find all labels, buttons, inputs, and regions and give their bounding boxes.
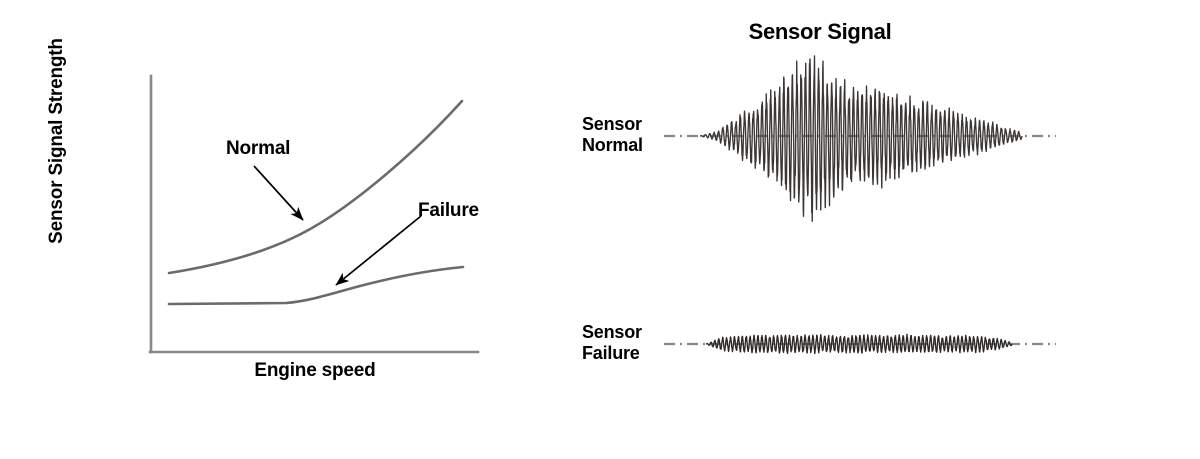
waveform-panel: Sensor Signal Sensor Normal Sensor Failu… (560, 0, 1200, 459)
curve-failure (169, 267, 463, 304)
series-label-failure: Failure (418, 200, 479, 222)
line-chart-svg (0, 0, 520, 459)
figure-canvas: Sensor Signal Strength Engine speed Norm… (0, 0, 1200, 459)
line-chart-panel: Sensor Signal Strength Engine speed Norm… (0, 0, 520, 459)
arrow-normal (254, 166, 303, 220)
x-axis-title: Engine speed (150, 360, 480, 382)
waveform-trace-normal (700, 56, 1022, 221)
y-axis-title: Sensor Signal Strength (46, 26, 68, 256)
curve-normal (169, 101, 462, 273)
series-label-normal: Normal (226, 138, 290, 160)
waveform-svg (560, 0, 1200, 459)
